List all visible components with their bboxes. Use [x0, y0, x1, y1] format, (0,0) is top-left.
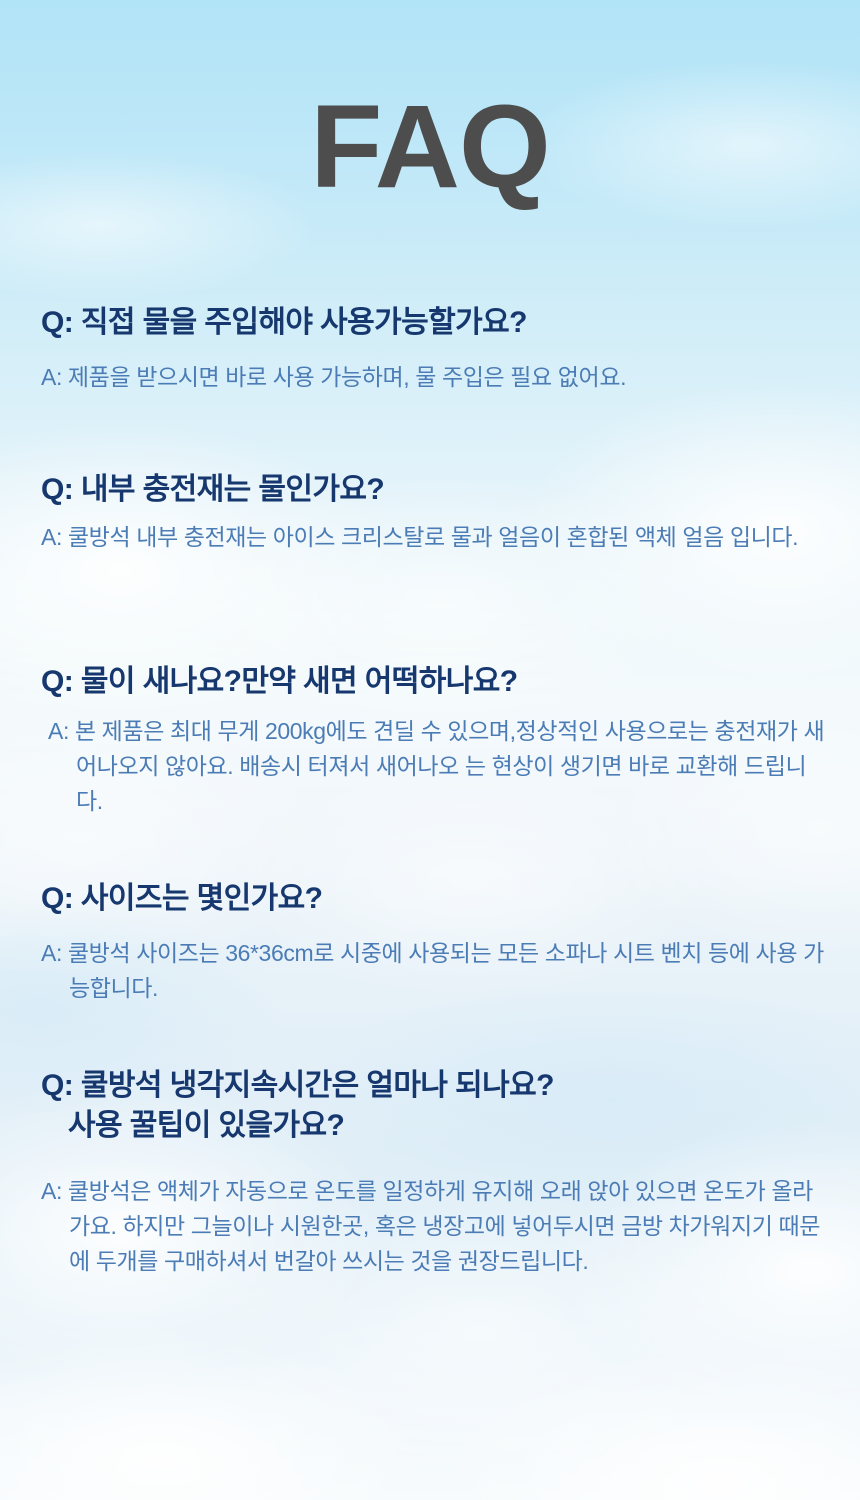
faq-question: Q: 쿨방석 냉각지속시간은 얼마나 되나요? 사용 꿀팁이 있을가요? — [0, 1066, 860, 1146]
faq-question: Q: 내부 충전재는 물인가요? — [0, 470, 860, 510]
faq-answer: A: 쿨방석 사이즈는 36*36cm로 시중에 사용되는 모든 소파나 시트 … — [0, 936, 860, 1006]
faq-item: Q: 물이 새나요?만약 새면 어떡하나요? A: 본 제품은 최대 무게 20… — [0, 662, 860, 819]
faq-question: Q: 사이즈는 몇인가요? — [0, 879, 860, 919]
faq-question-line-1: Q: 쿨방석 냉각지속시간은 얼마나 되나요? — [41, 1069, 554, 1102]
faq-item: Q: 사이즈는 몇인가요? A: 쿨방석 사이즈는 36*36cm로 시중에 사… — [0, 879, 860, 1006]
faq-answer: A: 쿨방석 내부 충전재는 아이스 크리스탈로 물과 얼음이 혼합된 액체 얼… — [0, 520, 860, 555]
faq-question-line-2: 사용 꿀팁이 있을가요? — [41, 1106, 820, 1146]
faq-item: Q: 직접 물을 주입해야 사용가능할가요? A: 제품을 받으시면 바로 사용… — [0, 303, 860, 395]
faq-answer: A: 쿨방석은 액체가 자동으로 온도를 일정하게 유지해 오래 앉아 있으면 … — [0, 1174, 860, 1279]
faq-answer: A: 본 제품은 최대 무게 200kg에도 견딜 수 있으며,정상적인 사용으… — [0, 714, 860, 819]
page-title: FAQ — [0, 88, 860, 206]
faq-content: FAQ Q: 직접 물을 주입해야 사용가능할가요? A: 제품을 받으시면 바… — [0, 0, 860, 1500]
faq-question: Q: 직접 물을 주입해야 사용가능할가요? — [0, 303, 860, 343]
faq-question: Q: 물이 새나요?만약 새면 어떡하나요? — [0, 662, 860, 702]
faq-item: Q: 쿨방석 냉각지속시간은 얼마나 되나요? 사용 꿀팁이 있을가요? A: … — [0, 1066, 860, 1279]
faq-answer: A: 제품을 받으시면 바로 사용 가능하며, 물 주입은 필요 없어요. — [0, 360, 860, 395]
faq-item: Q: 내부 충전재는 물인가요? A: 쿨방석 내부 충전재는 아이스 크리스탈… — [0, 470, 860, 555]
